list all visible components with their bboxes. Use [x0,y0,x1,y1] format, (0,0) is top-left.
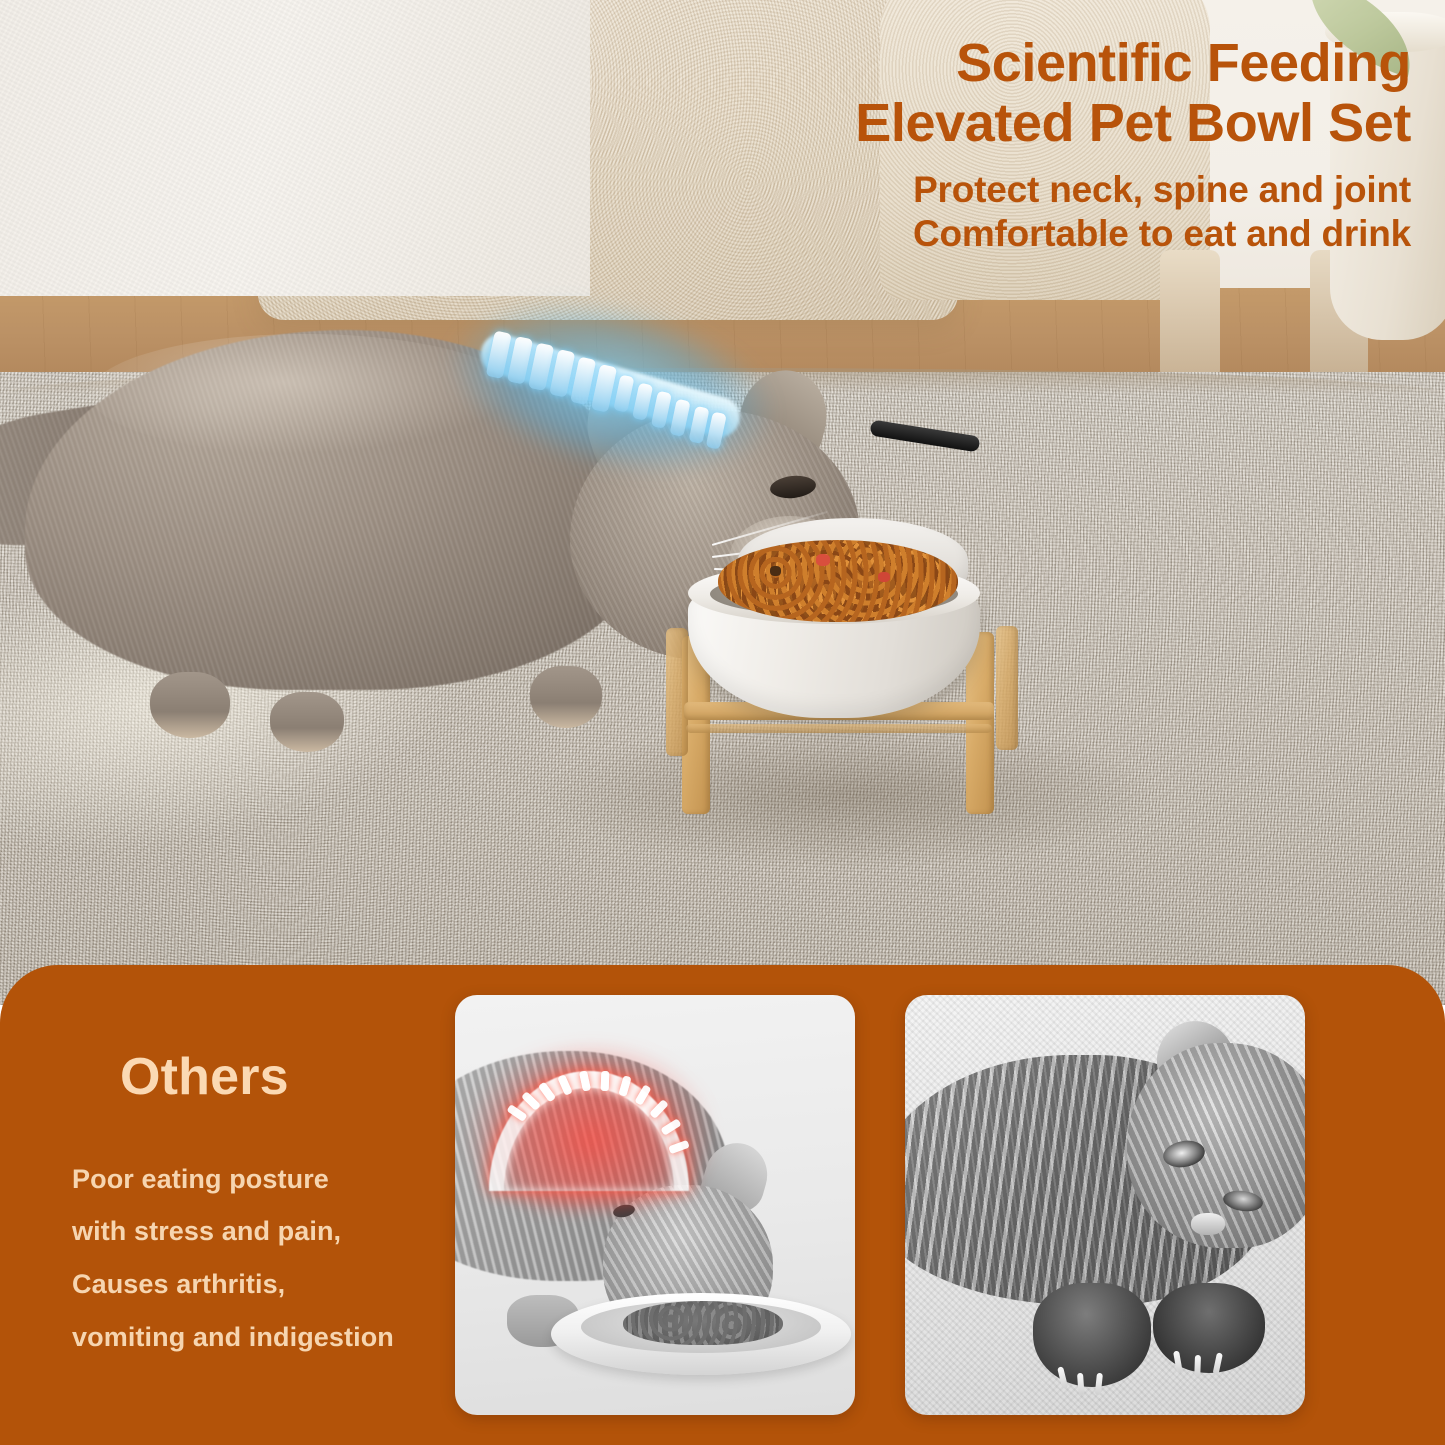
kibble-piece [816,554,830,566]
cat-paw-front [530,666,602,728]
elevated-bowl-set [666,510,1066,840]
others-heading: Others [120,1047,455,1107]
product-marketing-image: Scientific Feeding Elevated Pet Bowl Set… [0,0,1445,1445]
furniture-leg-left [1160,250,1220,380]
white-textured-wall [0,0,590,296]
cat-paw-rear [150,672,230,738]
stand-leg-back-left [666,628,688,756]
plate-food [623,1301,783,1345]
strained-spine-red-icon [483,1057,698,1197]
kibble-piece [770,566,781,576]
comparison-photos [455,995,1305,1415]
headline-subtitle-line1: Protect neck, spine and joint [913,169,1411,210]
lying-cat-paw-left [1033,1283,1151,1387]
dry-cat-food [718,540,958,622]
headline-title-line1: Scientific Feeding [956,33,1411,93]
headline-subtitle-line2: Comfortable to eat and drink [913,213,1411,254]
lying-cat-paw-right [1153,1283,1265,1373]
photo-sick-cat-lying [905,995,1305,1415]
others-description: Poor eating posture with stress and pain… [72,1153,455,1364]
lying-cat-nose [1191,1213,1225,1235]
headline-subtitle: Protect neck, spine and joint Comfortabl… [591,168,1411,256]
stand-leg-back-right [996,626,1018,750]
stand-rail-lower [686,724,992,733]
cat-paw-rear-2 [270,692,344,752]
comparison-panel: Others Poor eating posture with stress a… [0,965,1445,1445]
hero-photo: Scientific Feeding Elevated Pet Bowl Set… [0,0,1445,1005]
kibble-piece [878,572,890,582]
headline-title: Scientific Feeding Elevated Pet Bowl Set [591,34,1411,154]
photo-kitten-eating-floor [455,995,855,1415]
others-text-block: Others Poor eating posture with stress a… [0,1047,455,1364]
headline-block: Scientific Feeding Elevated Pet Bowl Set… [591,34,1411,256]
headline-title-line2: Elevated Pet Bowl Set [855,93,1411,153]
